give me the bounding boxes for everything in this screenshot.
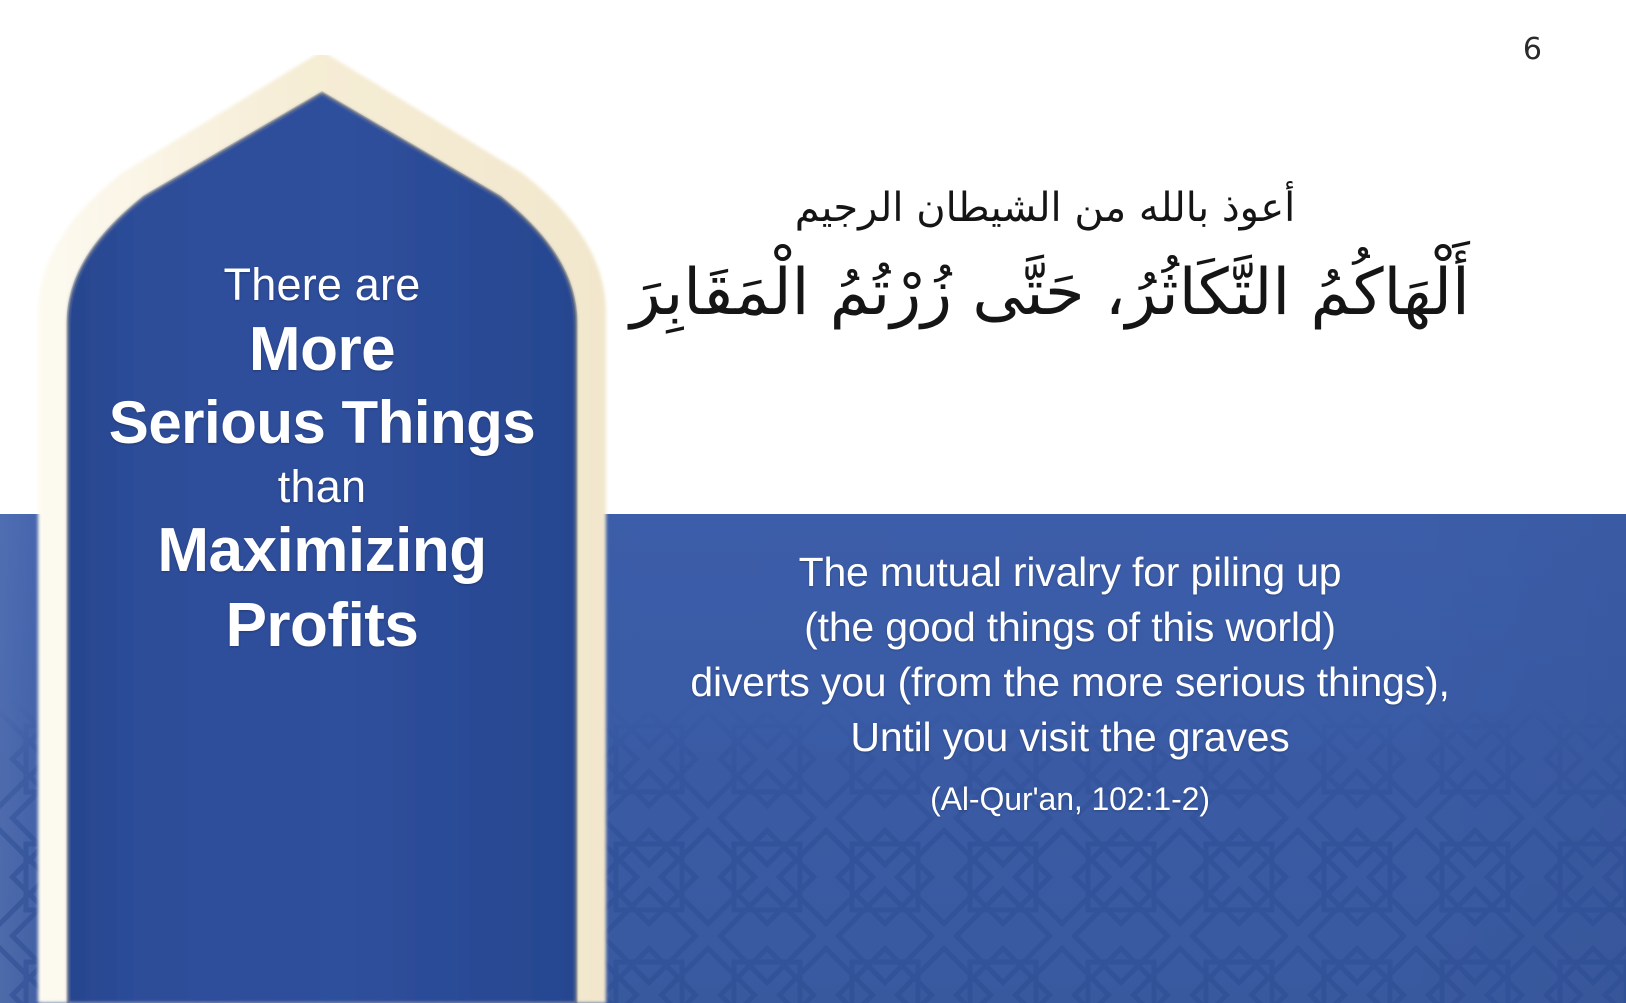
arch-line-3: Serious Things [77, 389, 567, 461]
translation-line-2: (the good things of this world) [610, 600, 1530, 655]
istiadha-text: أعوذ بالله من الشيطان الرجيم [600, 180, 1500, 236]
arch-line-1: There are [77, 260, 567, 315]
arch-line-4: than [77, 462, 567, 517]
translation-line-4: Until you visit the graves [610, 710, 1530, 765]
arch-line-5: Maximizing [77, 516, 567, 590]
translation-line-3: diverts you (from the more serious thing… [610, 655, 1530, 710]
page-number: 6 [1523, 32, 1542, 67]
arch-line-2: More [77, 315, 567, 389]
english-translation-block: The mutual rivalry for piling up (the go… [610, 545, 1530, 818]
mihrab-arch: There are More Serious Things than Maxim… [22, 55, 622, 1003]
arch-headline: There are More Serious Things than Maxim… [77, 260, 567, 665]
arch-line-6: Profits [77, 591, 567, 665]
arabic-text-block: أعوذ بالله من الشيطان الرجيم أَلْهَاكُمُ… [600, 180, 1500, 336]
book-page: There are More Serious Things than Maxim… [0, 0, 1626, 1003]
translation-line-1: The mutual rivalry for piling up [610, 545, 1530, 600]
quran-ayah-text: أَلْهَاكُمُ التَّكَاثُرُ، حَتَّى زُرْتُم… [600, 250, 1500, 336]
quran-citation: (Al-Qur'an, 102:1-2) [610, 781, 1530, 818]
